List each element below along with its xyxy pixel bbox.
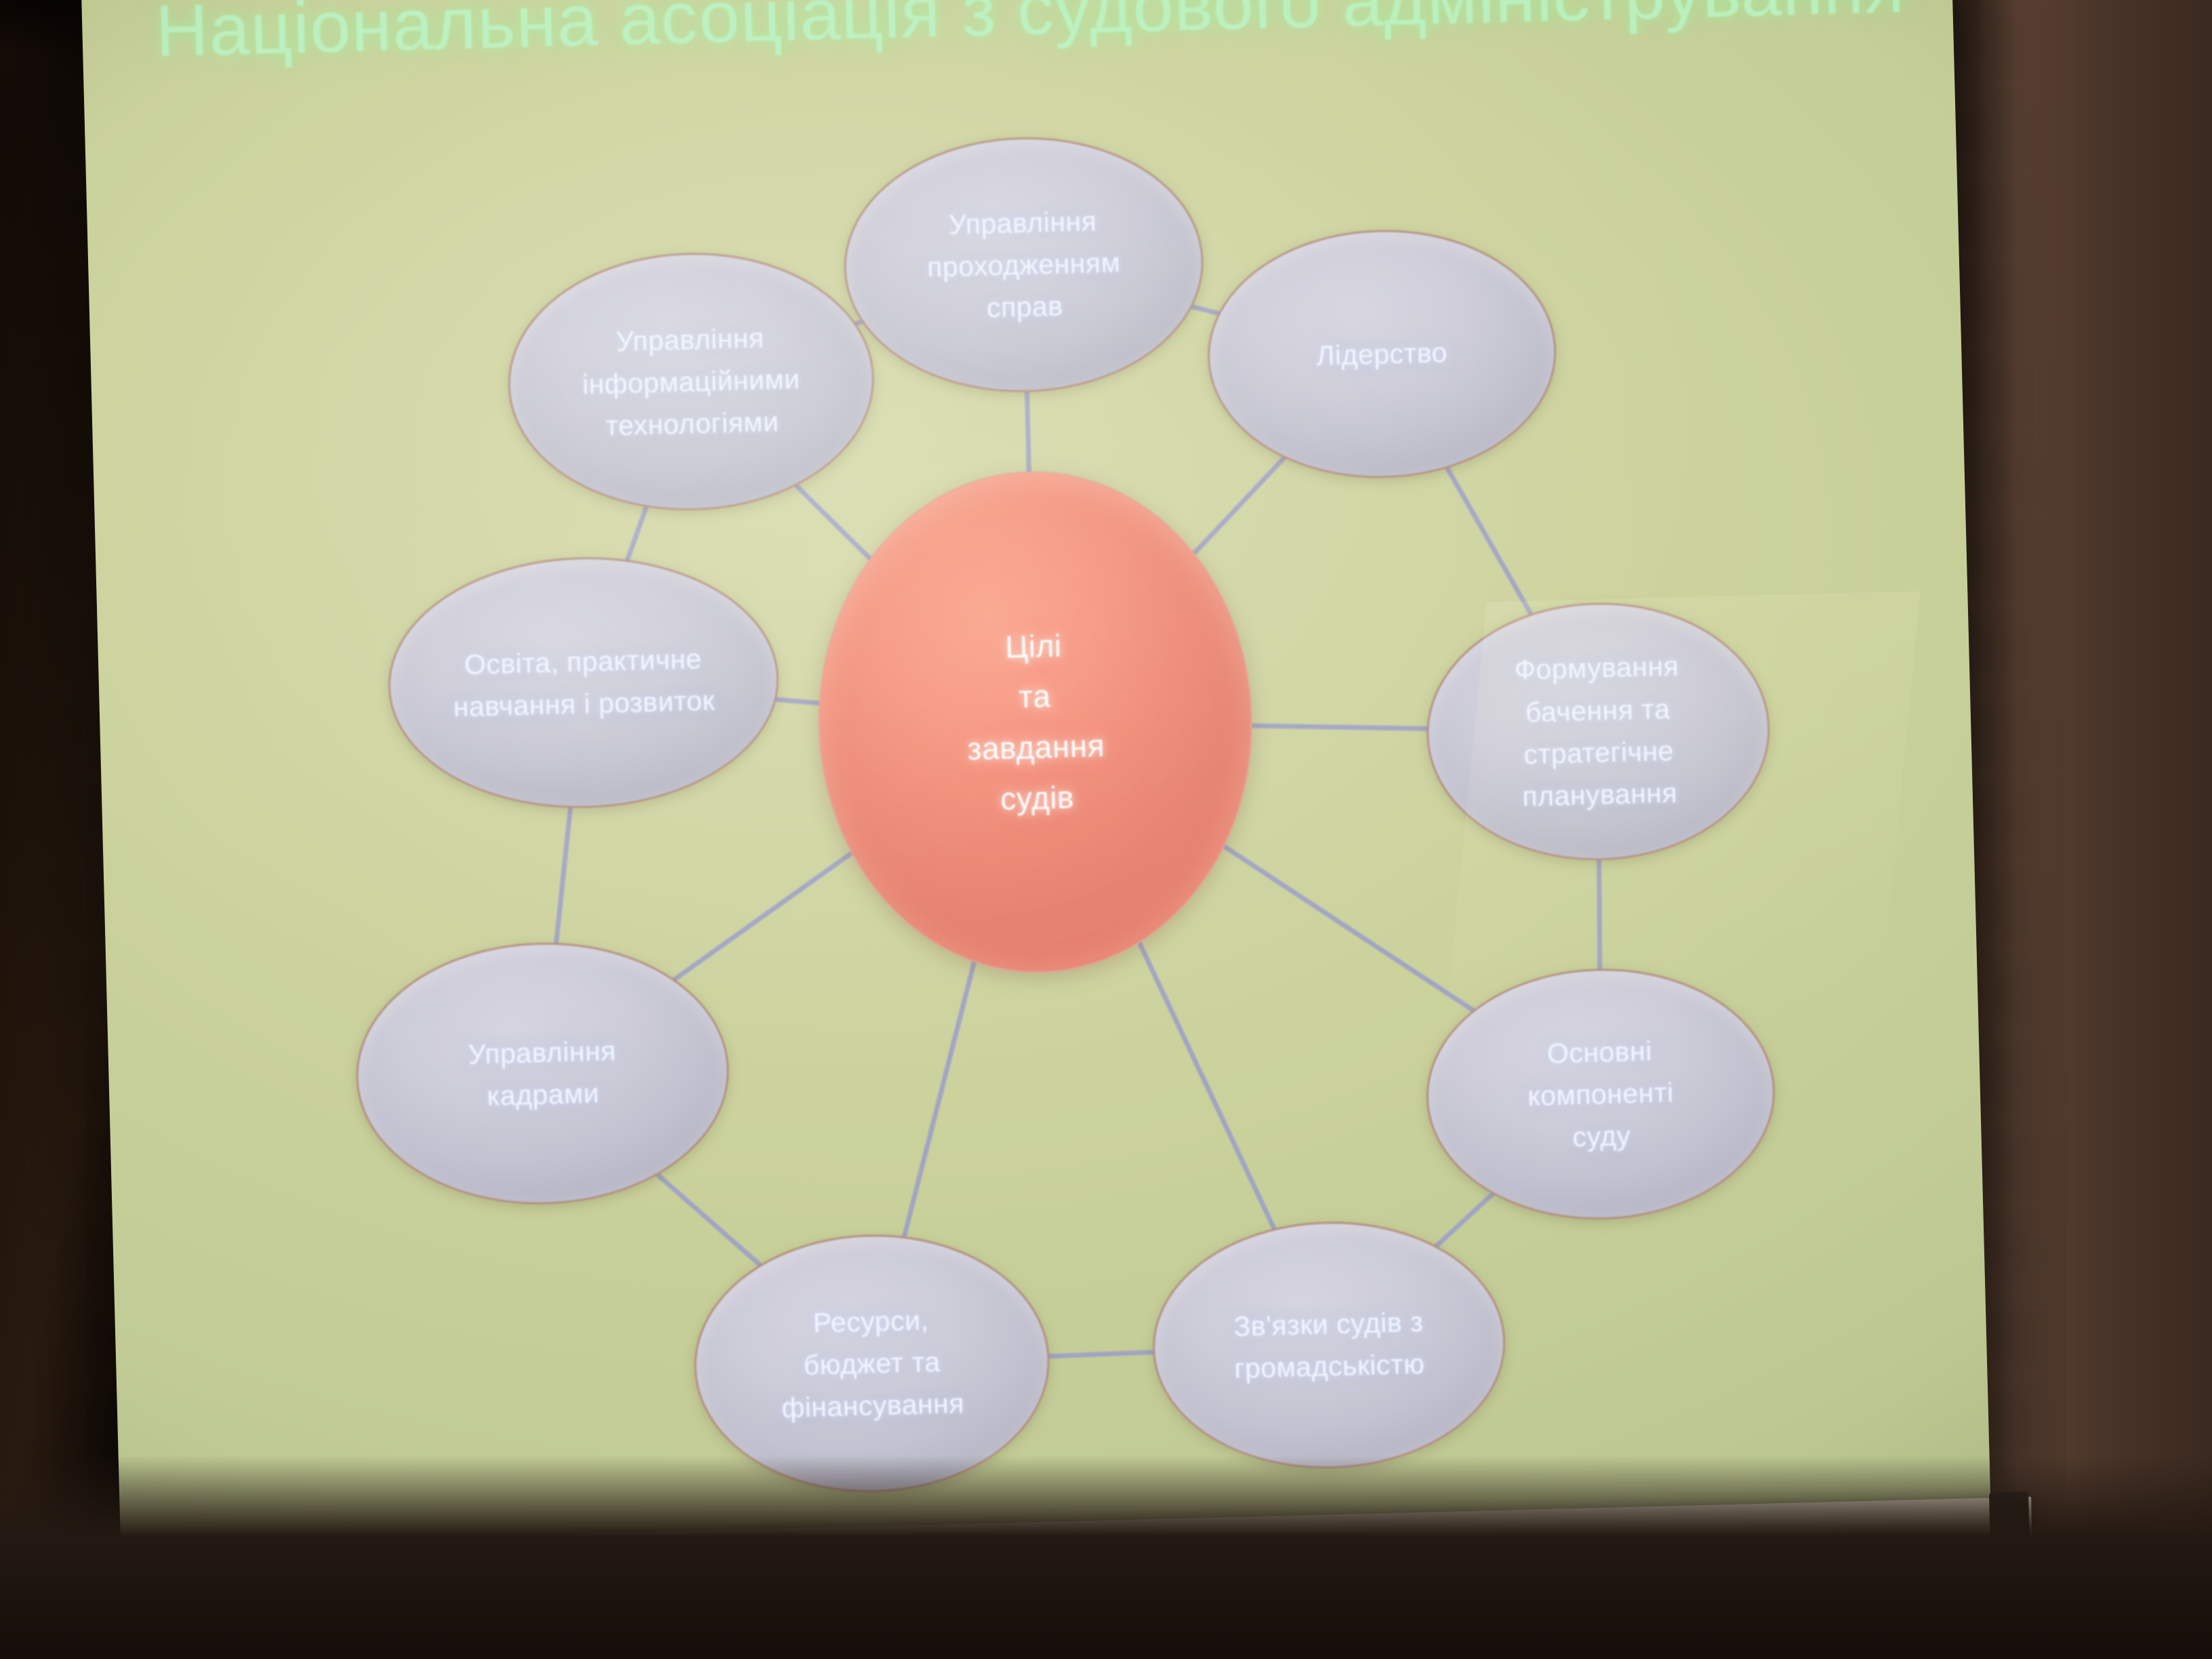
photo-of-projection-screen: Національна асоціація з судового адмініс… [0, 0, 2212, 1659]
room-floor-shadow [0, 1456, 2212, 1659]
hub-label: Цілі та завдання судів [964, 619, 1107, 825]
node-label: Управління кадрами [450, 1029, 635, 1118]
node-label: Ресурси, бюджет та фінансування [761, 1297, 982, 1429]
node-label: Основні компоненті суду [1509, 1029, 1693, 1160]
node-label: Формування бачення та стратегічне планув… [1496, 644, 1700, 819]
screen-surface: Національна асоціація з судового адмініс… [81, 0, 1990, 1545]
slide-title: Національна асоціація з судового адмініс… [155, 0, 1891, 73]
projection-screen: Національна асоціація з судового адмініс… [81, 0, 1990, 1545]
radial-diagram: Управління проходженням справЛідерствоФо… [85, 68, 1990, 1504]
node-label: Управління інформаційними технологіями [563, 315, 819, 448]
presentation-slide: Національна асоціація з судового адмініс… [81, 0, 1990, 1545]
node-label: Управління проходженням справ [908, 199, 1140, 331]
node-label: Зв'язки судів з громадськістю [1215, 1300, 1443, 1390]
node-label: Освіта, практичне навчання і розвиток [434, 636, 733, 729]
node-label: Лідерство [1298, 331, 1466, 377]
